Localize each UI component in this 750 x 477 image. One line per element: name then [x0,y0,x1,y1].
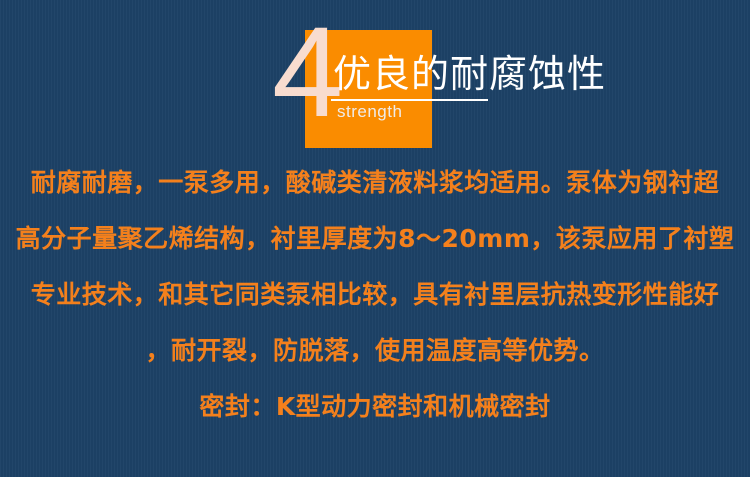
page-title: 优良的耐腐蚀性 [333,52,606,96]
body-line-seal: 密封：K型动力密封和机械密封 [0,379,750,435]
page-subtitle: strength [337,101,402,123]
body-line: 高分子量聚乙烯结构，衬里厚度为8～20mm，该泵应用了衬塑 [0,211,750,267]
body-line: 专业技术，和其它同类泵相比较，具有衬里层抗热变形性能好 [0,267,750,323]
body-line: 耐腐耐磨，一泵多用，酸碱类清液料浆均适用。泵体为钢衬超 [0,155,750,211]
header-section: 4 优良的耐腐蚀性 strength [0,0,750,155]
promo-banner: 4 优良的耐腐蚀性 strength 耐腐耐磨，一泵多用，酸碱类清液料浆均适用。… [0,0,750,477]
body-line: ，耐开裂，防脱落，使用温度高等优势。 [0,323,750,379]
body-copy: 耐腐耐磨，一泵多用，酸碱类清液料浆均适用。泵体为钢衬超 高分子量聚乙烯结构，衬里… [0,155,750,435]
